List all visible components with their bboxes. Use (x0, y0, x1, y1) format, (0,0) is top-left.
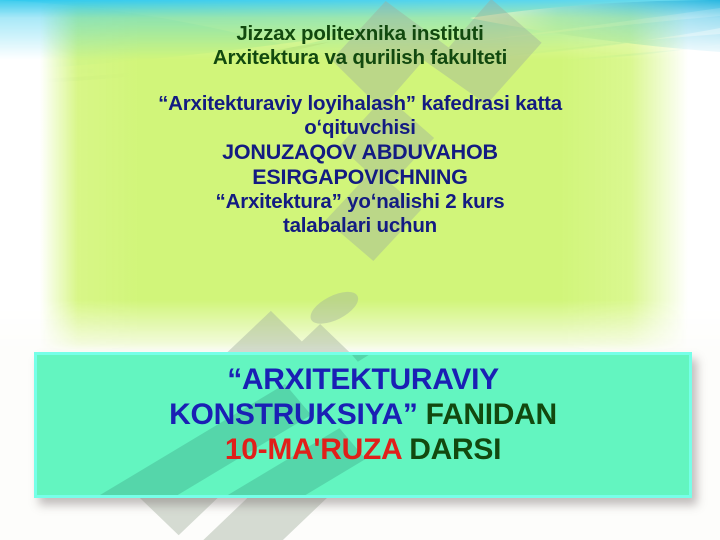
department-line-1: “Arxitekturaviy loyihalash” kafedrasi ka… (60, 92, 660, 116)
title-line-2: KONSTRUKSIYA” FANIDAN (37, 398, 689, 433)
title-line-3: 10-MA'RUZA DARSI (37, 433, 689, 468)
title-line-1: “ARXITEKTURAVIY (37, 363, 689, 398)
institution-line-2: Arxitektura va qurilish fakulteti (60, 46, 660, 70)
audience-line-2: talabalari uchun (60, 214, 660, 238)
lecture-number: 10-MA'RUZA (225, 433, 401, 466)
heading-spacer (60, 70, 660, 92)
slide-heading-block: Jizzax politexnika instituti Arxitektura… (60, 22, 660, 238)
lesson-suffix: DARSI (409, 433, 501, 466)
subject-suffix: FANIDAN (426, 398, 557, 431)
subject-open: “ARXITEKTURAVIY (227, 363, 499, 396)
institution-line-1: Jizzax politexnika instituti (60, 22, 660, 46)
presentation-slide: Jizzax politexnika instituti Arxitektura… (0, 0, 720, 540)
audience-line-1: “Arxitektura” yoʻnalishi 2 kurs (60, 190, 660, 214)
subject-close: KONSTRUKSIYA” (169, 398, 417, 431)
lecturer-name-line-2: ESIRGAPOVICHNING (60, 165, 660, 190)
lecture-title-text: “ARXITEKTURAVIY KONSTRUKSIYA” FANIDAN 10… (37, 355, 689, 467)
lecture-title-box: “ARXITEKTURAVIY KONSTRUKSIYA” FANIDAN 10… (34, 352, 692, 498)
lecturer-name-line-1: JONUZAQOV ABDUVAHOB (60, 140, 660, 165)
department-line-2: oʻqituvchisi (60, 116, 660, 140)
